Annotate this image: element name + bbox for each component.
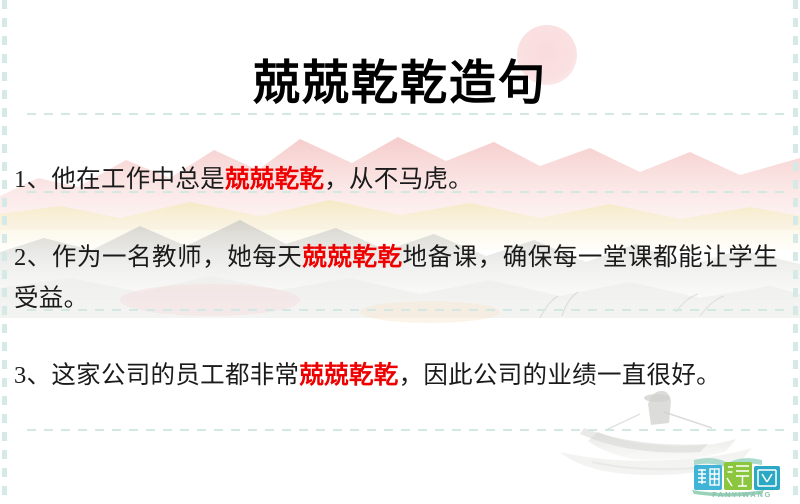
sentence-1-index: 1、	[14, 166, 51, 193]
sentence-1-after: ，从不马虎。	[324, 166, 473, 193]
sentence-2-keyword: 兢兢乾乾	[302, 244, 402, 271]
sentence-1-before: 他在工作中总是	[51, 166, 225, 193]
sentence-3-index: 3、	[14, 362, 51, 389]
document-content: 兢兢乾乾造句 1、他在工作中总是兢兢乾乾，从不马虎。 2、作为一名教师，她每天兢…	[0, 0, 800, 504]
page-title: 兢兢乾乾造句	[0, 55, 800, 114]
sentence-3-after: ，因此公司的业绩一直很好。	[399, 362, 721, 389]
example-sentence-3: 3、这家公司的员工都非常兢兢乾乾，因此公司的业绩一直很好。	[14, 355, 778, 396]
example-sentence-2: 2、作为一名教师，她每天兢兢乾乾地备课，确保每一堂课都能让学生受益。	[14, 237, 778, 319]
site-logo-watermark[interactable]: FANYIWANG	[664, 454, 792, 498]
sentence-2-index: 2、	[14, 244, 52, 271]
sentence-1-keyword: 兢兢乾乾	[225, 166, 324, 193]
logo-romanization: FANYIWANG	[694, 490, 790, 499]
sentence-2-before: 作为一名教师，她每天	[52, 244, 302, 271]
sentence-3-before: 这家公司的员工都非常	[51, 362, 299, 389]
sentence-3-keyword: 兢兢乾乾	[299, 362, 398, 389]
example-sentence-1: 1、他在工作中总是兢兢乾乾，从不马虎。	[14, 159, 778, 200]
document-page: 兢兢乾乾造句 1、他在工作中总是兢兢乾乾，从不马虎。 2、作为一名教师，她每天兢…	[0, 0, 800, 504]
